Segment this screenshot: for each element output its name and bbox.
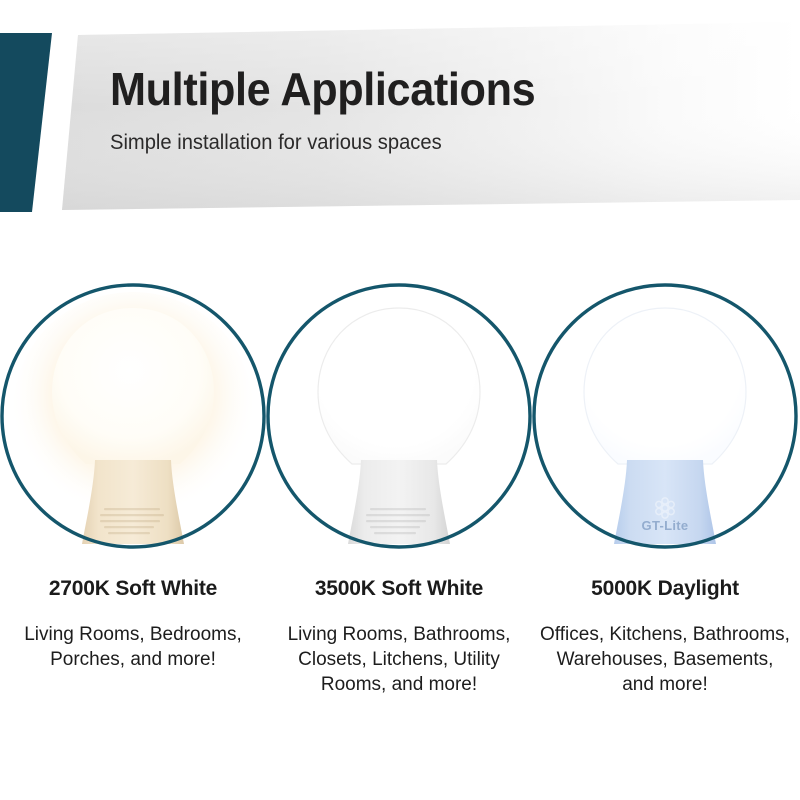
- page-subtitle: Simple installation for various spaces: [110, 130, 686, 156]
- page-title: Multiple Applications: [110, 62, 674, 116]
- bulb-circle-3500k: [266, 272, 532, 560]
- header-text-block: Multiple Applications Simple installatio…: [110, 62, 710, 156]
- bulb-globe: [52, 308, 214, 464]
- product-infographic-page: Multiple Applications Simple installatio…: [0, 0, 800, 800]
- bulb-globe: [318, 308, 480, 464]
- gt-lite-wordmark: GT-Lite: [642, 518, 689, 533]
- bulb-illustration-warm: [0, 272, 266, 560]
- header-banner: Multiple Applications Simple installatio…: [0, 0, 800, 230]
- bulb-base: [82, 460, 184, 544]
- product-column-5000k: GT-Lite 5000K Daylight Offices, Kitchens…: [532, 272, 798, 697]
- bulb-base: [348, 460, 450, 544]
- header-accent-block: [0, 33, 52, 212]
- bulb-illustration-cool: GT-Lite: [532, 272, 798, 560]
- bulb-globe: [584, 308, 746, 464]
- column-description: Offices, Kitchens, Bathrooms, Warehouses…: [540, 602, 790, 697]
- bulb-circle-2700k: [0, 272, 266, 560]
- column-description: Living Rooms, Bathrooms, Closets, Litche…: [274, 602, 524, 697]
- column-heading: 2700K Soft White: [49, 560, 217, 602]
- column-description: Living Rooms, Bedrooms, Porches, and mor…: [8, 602, 258, 672]
- column-heading: 3500K Soft White: [315, 560, 483, 602]
- product-column-3500k: 3500K Soft White Living Rooms, Bathrooms…: [266, 272, 532, 697]
- bulb-illustration-neutral: [266, 272, 532, 560]
- product-column-2700k: 2700K Soft White Living Rooms, Bedrooms,…: [0, 272, 266, 697]
- column-heading: 5000K Daylight: [591, 560, 739, 602]
- product-columns: 2700K Soft White Living Rooms, Bedrooms,…: [0, 272, 800, 697]
- bulb-circle-5000k: GT-Lite: [532, 272, 798, 560]
